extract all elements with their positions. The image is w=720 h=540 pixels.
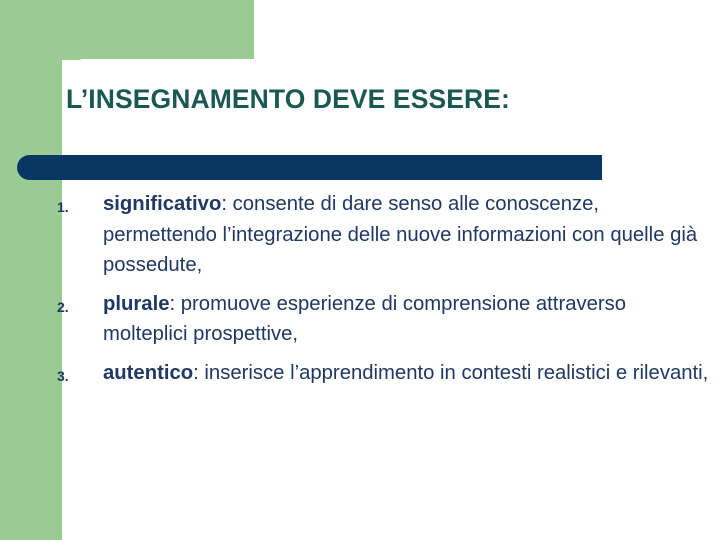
- presentation-slide: L’INSEGNAMENTO DEVE ESSERE: 1. significa…: [0, 0, 720, 540]
- list-item-text: significativo: consente di dare senso al…: [103, 189, 712, 281]
- list-item-description: : promuove esperienze di comprensione at…: [103, 293, 626, 346]
- list-item-number: 3.: [57, 361, 91, 392]
- list-item-term: autentico: [103, 362, 193, 384]
- list-item: 2. plurale: promuove esperienze di compr…: [57, 289, 712, 350]
- list-item: 3. autentico: inserisce l’apprendimento …: [57, 358, 712, 389]
- slide-title: L’INSEGNAMENTO DEVE ESSERE:: [66, 84, 686, 115]
- numbered-list: 1. significativo: consente di dare senso…: [57, 189, 712, 396]
- list-item: 1. significativo: consente di dare senso…: [57, 189, 712, 281]
- list-item-number: 2.: [57, 292, 91, 323]
- green-accent-sidebar: [0, 0, 62, 540]
- list-item-term: plurale: [103, 293, 170, 315]
- list-item-text: autentico: inserisce l’apprendimento in …: [103, 358, 712, 389]
- list-item-text: plurale: promuove esperienze di comprens…: [103, 289, 712, 350]
- list-item-number: 1.: [57, 192, 91, 223]
- list-item-description: : inserisce l’apprendimento in contesti …: [193, 362, 708, 384]
- list-item-term: significativo: [103, 193, 221, 215]
- title-divider-bar: [17, 155, 602, 180]
